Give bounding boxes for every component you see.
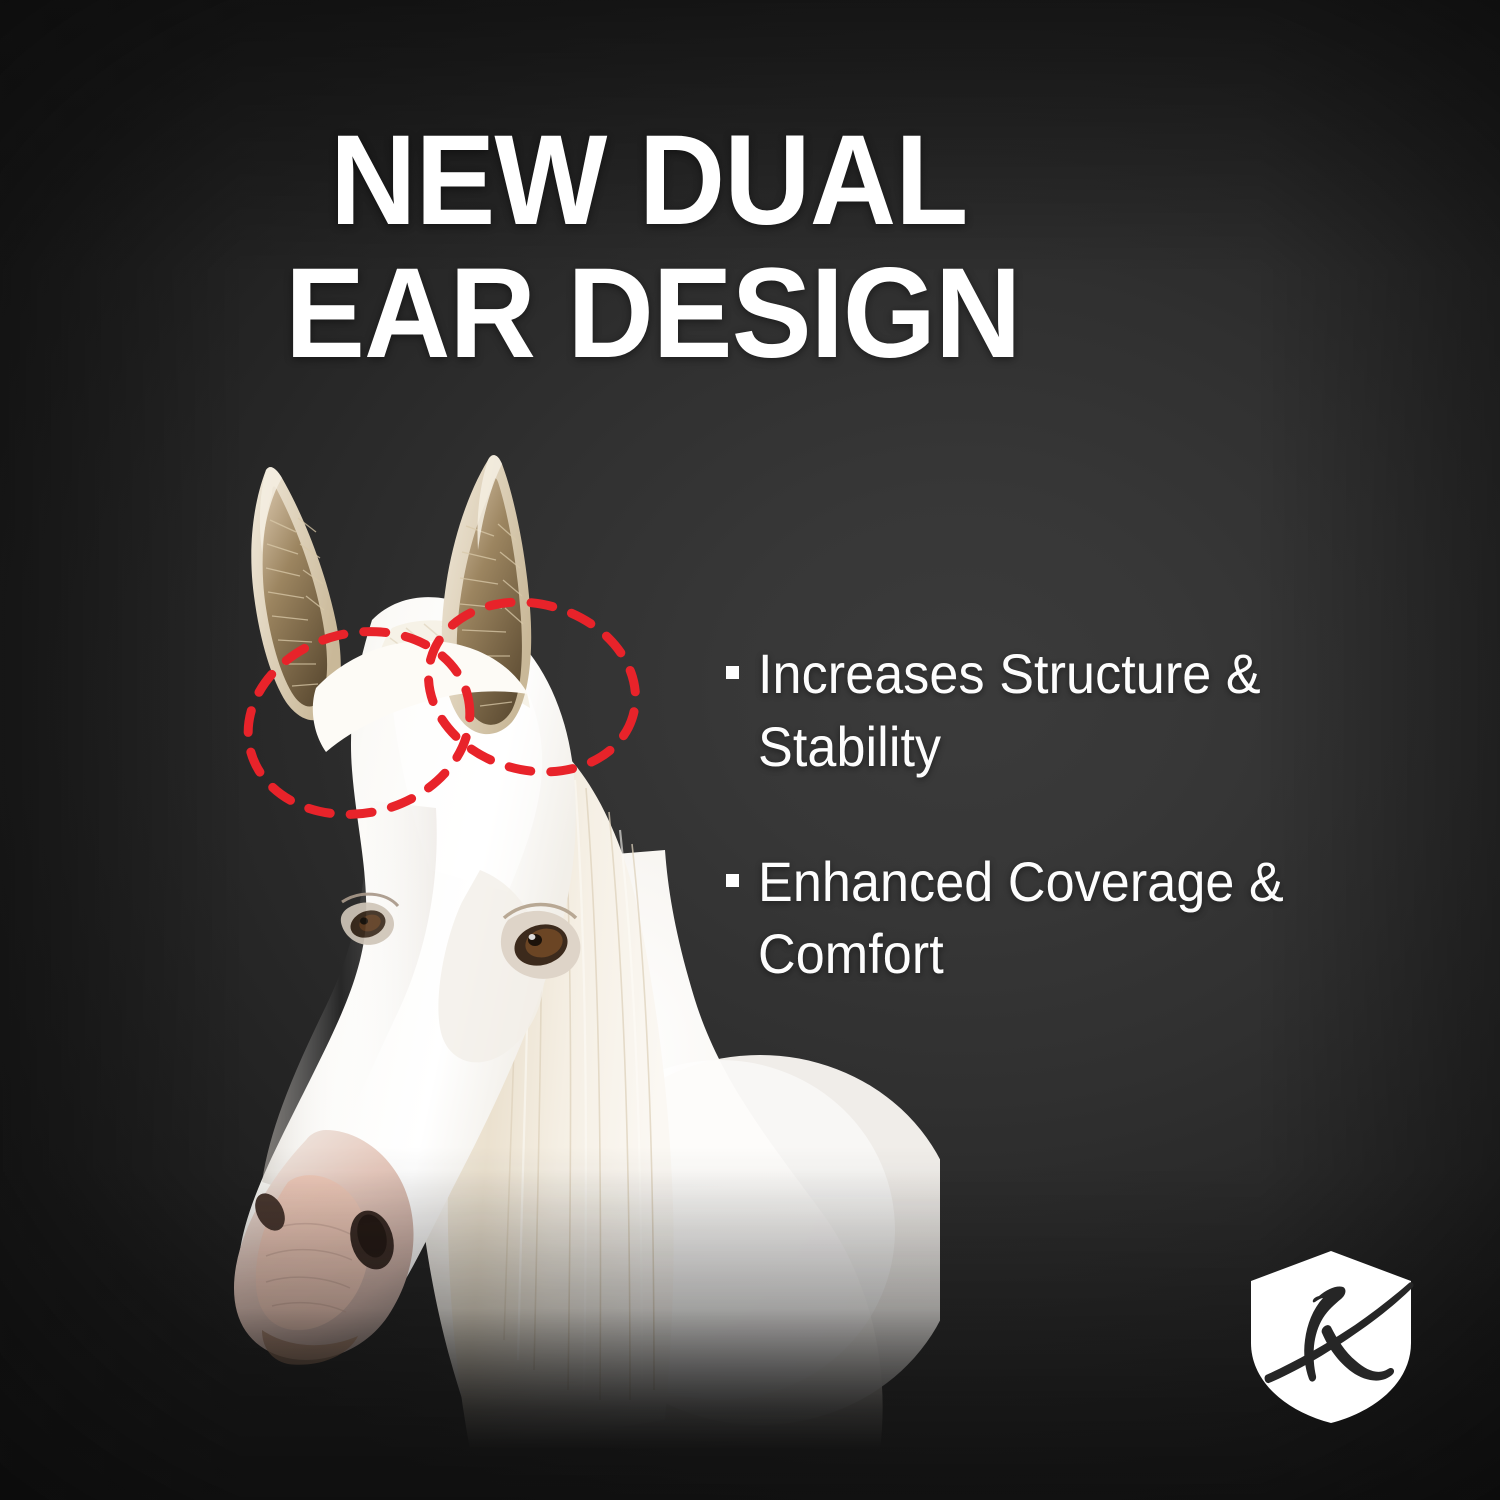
square-bullet-icon (726, 874, 739, 887)
headline-line-1: NEW DUAL (330, 118, 1209, 245)
page-title: NEW DUAL EAR DESIGN (330, 118, 1270, 377)
feature-label: Increases Structure & Stability (758, 638, 1379, 784)
feature-list: Increases Structure & Stability Enhanced… (726, 638, 1426, 1053)
square-bullet-icon (726, 666, 739, 679)
brand-logo (1243, 1247, 1419, 1427)
feature-label: Enhanced Coverage & Comfort (758, 846, 1379, 992)
list-item: Increases Structure & Stability (726, 638, 1426, 784)
headline-line-2: EAR DESIGN (285, 251, 1164, 378)
list-item: Enhanced Coverage & Comfort (726, 846, 1426, 992)
promo-banner: NEW DUAL EAR DESIGN Increases Structure … (0, 0, 1500, 1500)
